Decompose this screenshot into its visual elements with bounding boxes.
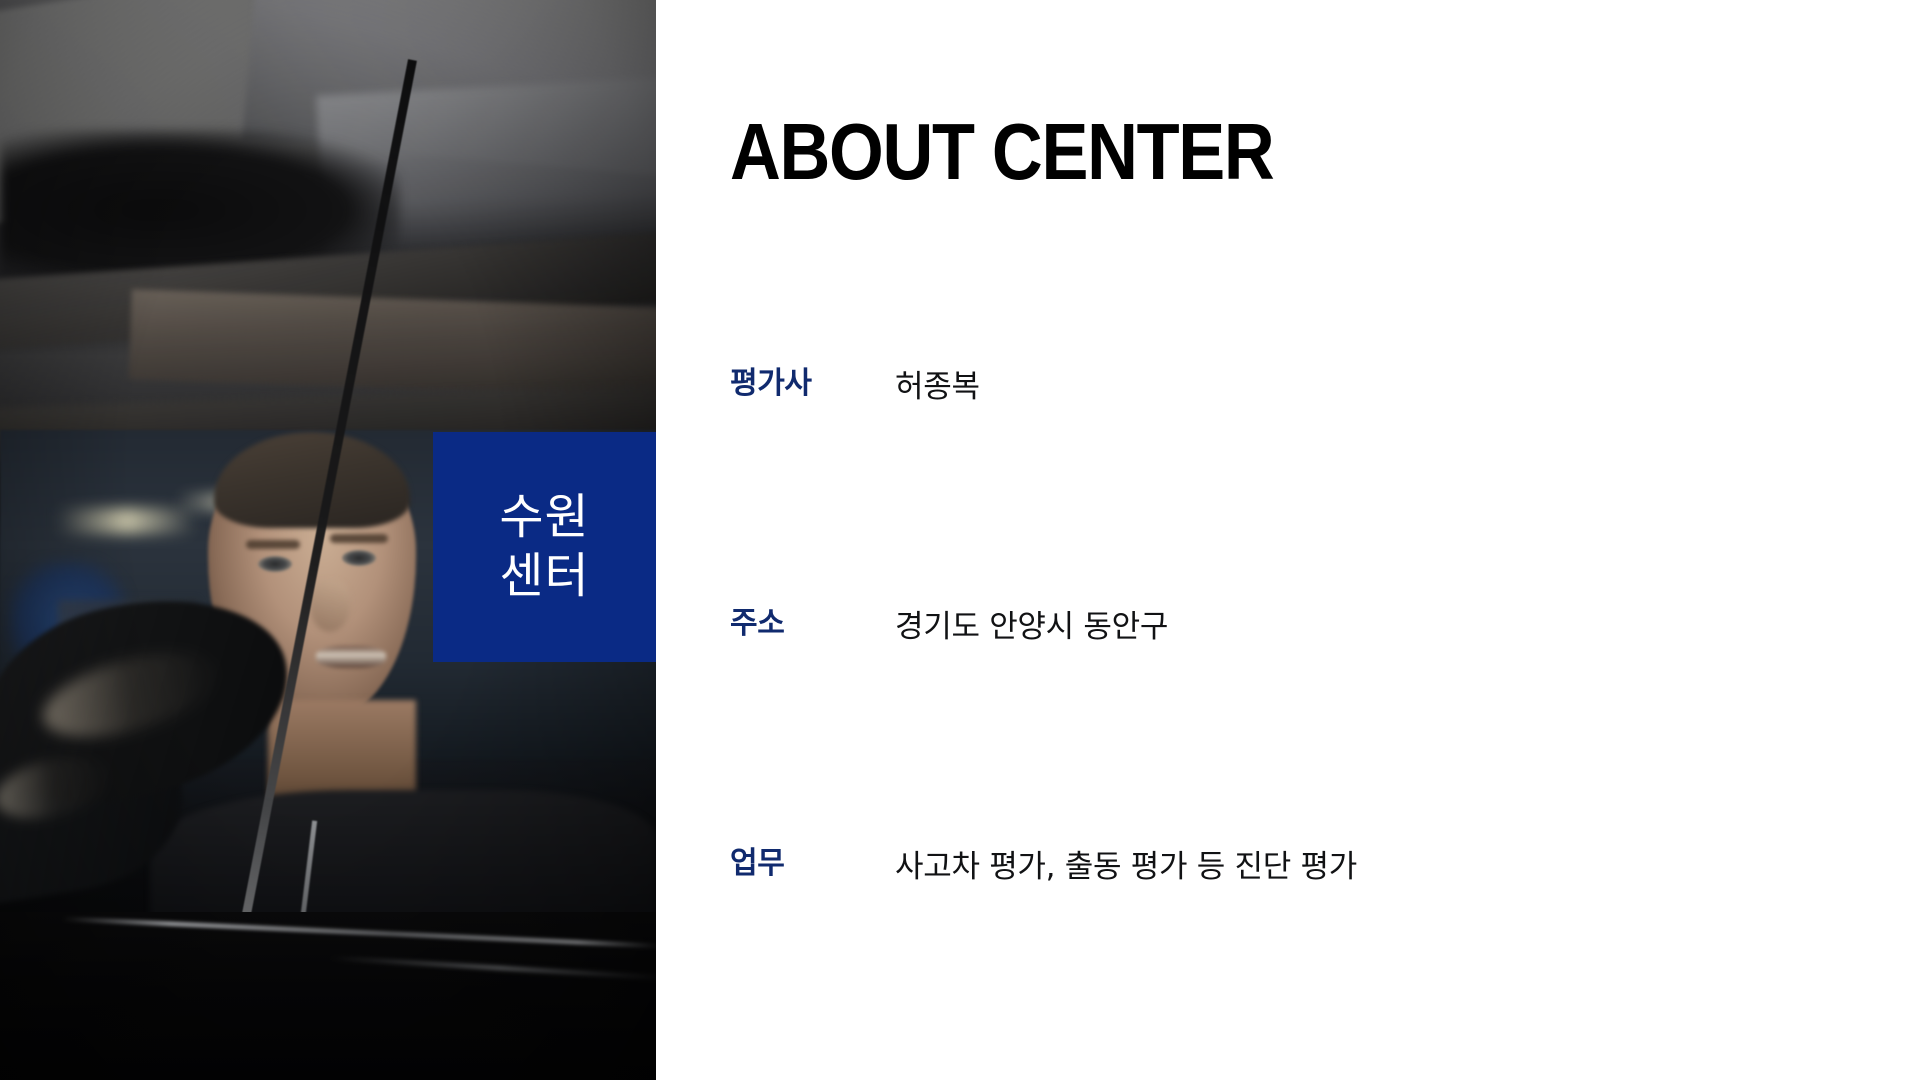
info-row: 평가사 허종복 [730,366,1830,606]
mechanic-mouth [316,646,386,668]
page-title: ABOUT CENTER [730,112,1273,192]
badge-line-1: 수원 [499,488,589,547]
about-center-slide: 수원 센터 ABOUT CENTER 평가사 허종복 주소 경기도 안양시 동안… [0,0,1920,1080]
mechanic-eye-right [342,550,376,566]
center-info-list: 평가사 허종복 주소 경기도 안양시 동안구 업무 사고차 평가, 출동 평가 … [730,366,1830,886]
info-value-appraiser: 허종복 [895,366,1830,406]
badge-line-2: 센터 [499,547,589,606]
info-value-services: 사고차 평가, 출동 평가 등 진단 평가 [895,846,1830,886]
mechanic-eye-left [258,556,292,572]
mechanic-eyebrow-right [330,534,388,543]
info-row: 주소 경기도 안양시 동안구 [730,606,1830,846]
info-value-address: 경기도 안양시 동안구 [895,606,1830,646]
info-label-address: 주소 [730,606,895,641]
info-row: 업무 사고차 평가, 출동 평가 등 진단 평가 [730,846,1830,886]
mechanic-eyebrow-left [246,540,300,549]
content-panel: ABOUT CENTER 평가사 허종복 주소 경기도 안양시 동안구 업무 사… [656,0,1920,1080]
dark-car-body [0,912,656,1080]
info-label-appraiser: 평가사 [730,366,895,401]
center-name-badge: 수원 센터 [433,432,656,662]
info-label-services: 업무 [730,846,895,881]
workshop-light-left [56,508,196,534]
mechanic-nose [310,580,350,632]
center-photo: 수원 센터 [0,0,656,1080]
